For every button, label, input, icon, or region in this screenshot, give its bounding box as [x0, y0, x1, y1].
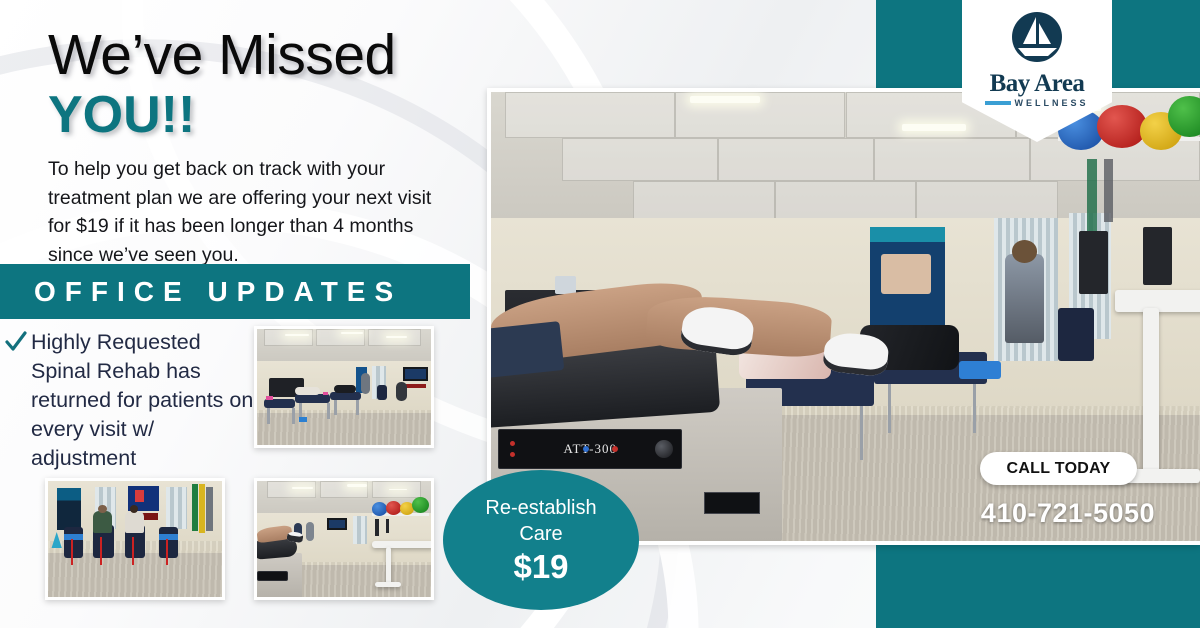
att-300-knob: [655, 440, 673, 458]
chair-right: [1058, 308, 1093, 362]
logo-tagline: WELLNESS: [1014, 98, 1088, 108]
standing-person: [361, 373, 370, 394]
red-sign: [405, 384, 426, 389]
treatment-table-1: [264, 399, 295, 408]
staff-standing: [1005, 254, 1044, 344]
adjustable-table-leg: [386, 547, 391, 584]
att-control-panel: [257, 571, 288, 580]
logo-tagline-row: WELLNESS: [985, 98, 1088, 108]
patient-green-shirt: [93, 511, 112, 533]
ceiling: [257, 329, 431, 364]
adjustable-table-base: [375, 582, 401, 587]
equipment-pole-green: [192, 484, 197, 530]
badge-line-1: Re-establish: [485, 495, 596, 521]
call-today-button[interactable]: CALL TODAY: [980, 452, 1137, 485]
wall-equipment-2: [386, 519, 389, 533]
window-blinds-right: [166, 487, 187, 529]
phone-number[interactable]: 410-721-5050: [968, 498, 1168, 529]
att-300-label: ATT-300: [564, 441, 617, 457]
badge-amount: $19: [513, 548, 568, 586]
poster-flag-detail: [135, 490, 144, 502]
dumbbell-rack-2: [1143, 227, 1171, 285]
logo-accent-bar: [985, 101, 1011, 105]
logo-wordmark: Bay Area: [990, 71, 1085, 97]
reestablish-care-badge: Re-establish Care $19: [443, 470, 639, 610]
badge-line-2: Care: [519, 521, 562, 547]
teal-panel-bottom: [876, 544, 1200, 628]
resistance-band-red-2: [100, 537, 102, 565]
wall-tv: [327, 518, 348, 530]
thumbnail-seated-exercise: [45, 478, 225, 600]
thumbnail-spinal-rehab-room: [254, 326, 434, 448]
resistance-band-red-4: [166, 539, 168, 565]
office-updates-label: OFFICE UPDATES: [0, 276, 402, 308]
window-blinds: [353, 516, 367, 544]
patient-on-table-2: [334, 385, 357, 393]
update-bullet-item: Highly Requested Spinal Rehab has return…: [4, 328, 254, 473]
adjustable-table-top: [372, 541, 434, 548]
chair-1: [64, 527, 83, 557]
chair-4: [159, 527, 178, 557]
resistance-band-2: [1104, 159, 1113, 222]
subcopy-text: To help you get back on track with your …: [48, 155, 440, 269]
seated-patient: [396, 382, 406, 401]
sanitizer-bottle: [555, 276, 576, 294]
poster-canvas: ATT-300 We’ve Missed YOU!! To help you g…: [0, 0, 1200, 628]
headline-block: We’ve Missed YOU!!: [48, 24, 468, 144]
checkmark-icon: [4, 330, 28, 473]
update-bullet-text: Highly Requested Spinal Rehab has return…: [31, 328, 254, 473]
staff-member-2: [306, 522, 315, 542]
thumbnail-rehab-gym: [254, 478, 434, 600]
headline-line-2: YOU!!: [48, 86, 468, 144]
resistance-band-red-3: [132, 537, 134, 565]
staff-head: [1012, 240, 1037, 262]
adjustable-table-leg: [1143, 308, 1159, 479]
dumbbell-rack: [1079, 231, 1107, 294]
treatment-table-2: [295, 394, 330, 403]
chair-1: [377, 385, 387, 400]
wall-tv: [403, 367, 427, 381]
patient-on-table-1: [295, 387, 319, 395]
carpet-floor: [257, 410, 431, 445]
equipment-pole-gray: [206, 487, 213, 531]
att-300-control-panel: ATT-300: [498, 429, 682, 469]
patient-white-shirt: [125, 511, 144, 533]
treatment-table-3: [330, 392, 361, 400]
patient-shorts: [487, 322, 564, 379]
call-today-label: CALL TODAY: [1006, 460, 1110, 478]
office-updates-bar: OFFICE UPDATES: [0, 264, 470, 319]
equipment-sticker: [704, 492, 761, 514]
wall-poster-left: [57, 488, 81, 530]
resistance-band-red-1: [71, 539, 73, 565]
resistance-band: [1087, 159, 1098, 231]
equipment-pole-yellow: [199, 484, 204, 533]
poster-image: [881, 254, 931, 294]
foam-pad: [959, 361, 1002, 379]
sailboat-icon: [1001, 10, 1073, 70]
wall-equipment: [375, 519, 378, 535]
headline-line-1: We’ve Missed: [48, 24, 468, 86]
